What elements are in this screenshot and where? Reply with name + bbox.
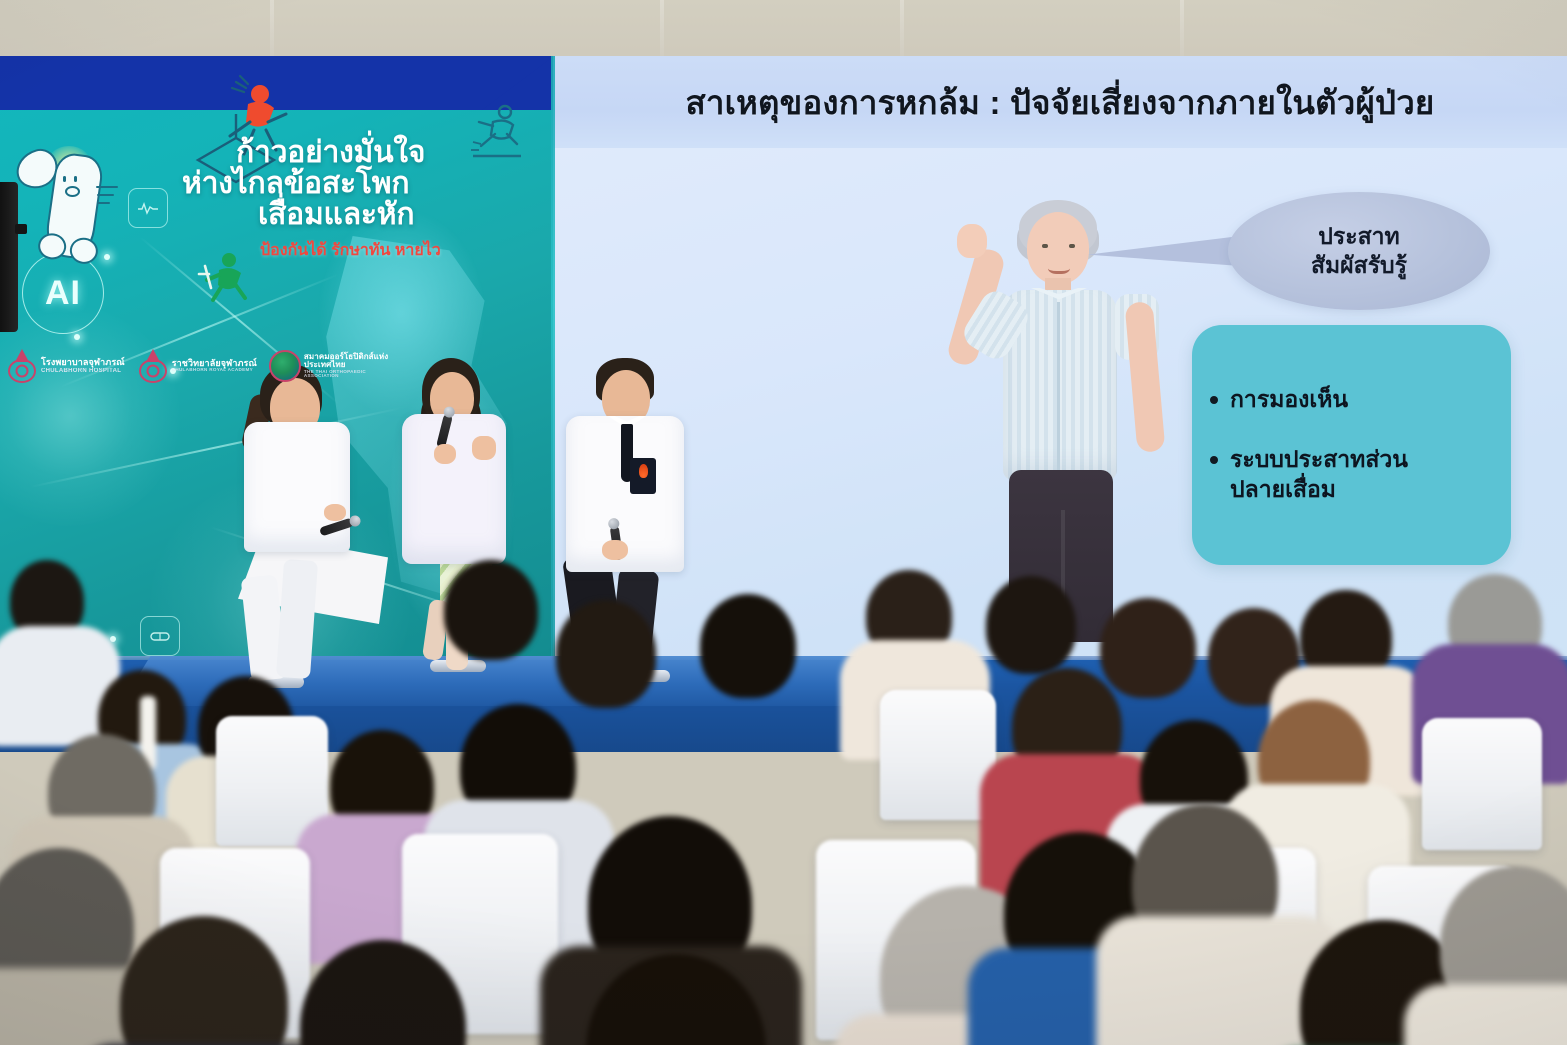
seminar-photo: โรงพยาบาลจุฬาภรณ์ CHULABHORN HOSPITAL รา… <box>0 0 1567 1045</box>
thai-orthopaedic-association-logo: สมาคมออร์โธปิดิกส์แห่งประเทศไทย THE THAI… <box>271 349 396 383</box>
bullet-label: ระบบประสาทส่วนปลายเสื่อม <box>1230 445 1445 505</box>
chair <box>880 690 996 820</box>
chair <box>1422 718 1542 850</box>
logo-label-th: โรงพยาบาลจุฬาภรณ์ <box>41 358 125 367</box>
audience-head <box>986 576 1076 674</box>
smile <box>1048 260 1070 274</box>
slide-title-bar: สาเหตุของการหกล้ม : ปัจจัยเสี่ยงจากภายใน… <box>553 56 1567 148</box>
name-badge <box>630 458 656 494</box>
logo-label-en: CHULABHORN ROYAL ACADEMY <box>172 368 257 373</box>
raised-hand <box>957 224 987 258</box>
slide-bullet-box: การมองเห็น ระบบประสาทส่วนปลายเสื่อม <box>1192 325 1511 565</box>
logo-label-th: สมาคมออร์โธปิดิกส์แห่งประเทศไทย <box>304 353 396 370</box>
arm-right <box>1125 301 1166 453</box>
event-banner: โรงพยาบาลจุฬาภรณ์ CHULABHORN HOSPITAL รา… <box>0 56 553 676</box>
bullet-label: การมองเห็น <box>1230 385 1348 415</box>
audience-head <box>1100 598 1196 698</box>
logo-label-en: CHULABHORN HOSPITAL <box>41 368 125 374</box>
eye <box>1042 244 1048 248</box>
slide-title: สาเหตุของการหกล้ม : ปัจจัยเสี่ยงจากภายใน… <box>686 76 1435 129</box>
bullet-dot-icon <box>1210 456 1218 464</box>
bullet-item: การมองเห็น <box>1210 385 1493 415</box>
callout-line-1: ประสาท <box>1318 222 1399 251</box>
shirt-placket <box>1057 302 1060 476</box>
bullet-item: ระบบประสาทส่วนปลายเสื่อม <box>1210 445 1493 505</box>
eye <box>1069 244 1075 248</box>
bullet-dot-icon <box>1210 396 1218 404</box>
logo-label-en: THE THAI ORTHOPAEDIC ASSOCIATION <box>304 370 396 380</box>
chulabhorn-hospital-logo: โรงพยาบาลจุฬาภรณ์ CHULABHORN HOSPITAL <box>8 349 125 383</box>
callout-bubble: ประสาท สัมผัสรับรู้ <box>1228 192 1490 310</box>
audience-head <box>556 600 656 708</box>
audience-head <box>700 594 796 698</box>
callout-line-2: สัมผัสรับรู้ <box>1311 251 1407 280</box>
chulabhorn-royal-academy-logo: ราชวิทยาลัยจุฬาภรณ์ CHULABHORN ROYAL ACA… <box>139 349 257 383</box>
audience-body <box>1404 984 1567 1045</box>
